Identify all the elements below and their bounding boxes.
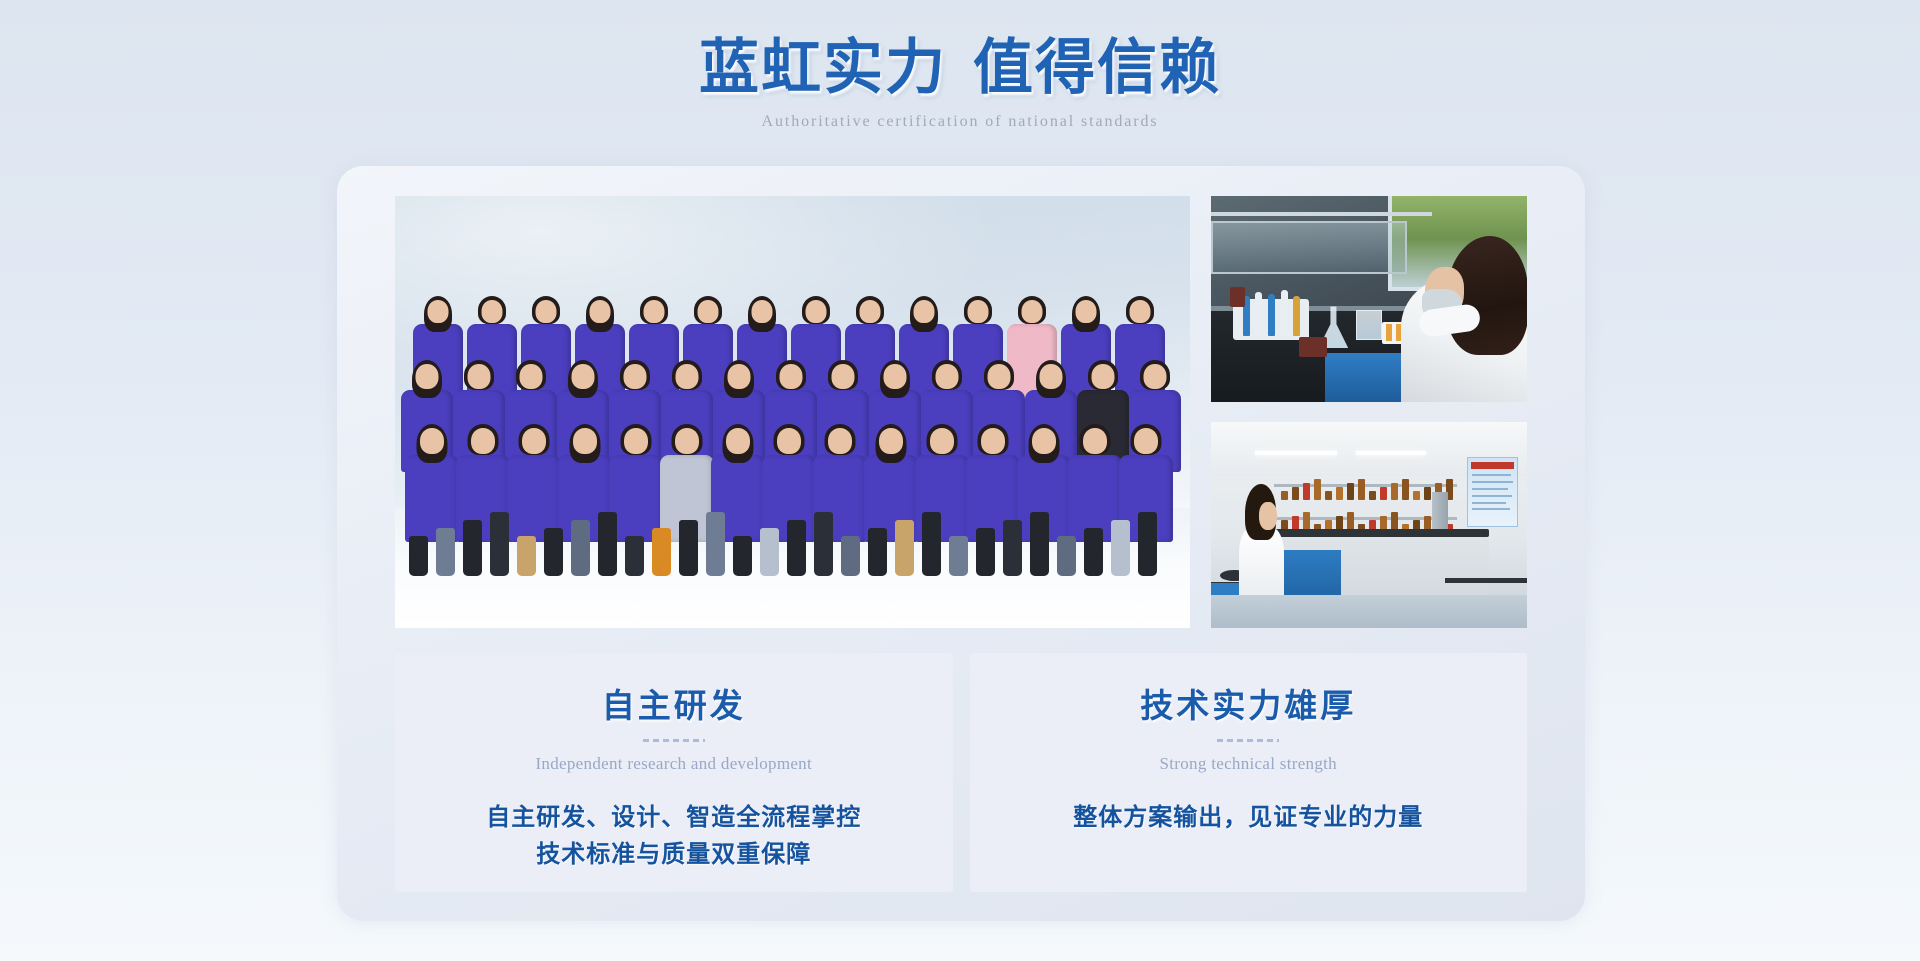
- face: [1076, 300, 1097, 323]
- face: [675, 428, 699, 454]
- reagent-bottle: [1336, 487, 1343, 500]
- beaker: [1356, 310, 1382, 340]
- leg: [436, 528, 455, 576]
- face: [1040, 364, 1063, 389]
- card-divider: [643, 739, 705, 742]
- laboratory-room-photo: [1211, 422, 1527, 628]
- face: [728, 364, 751, 389]
- leg: [1111, 520, 1130, 576]
- reagent-bottle: [1347, 483, 1354, 500]
- face: [572, 364, 595, 389]
- back-bench-top: [1445, 578, 1527, 583]
- lab-technician-pipetting-photo: [1211, 196, 1527, 402]
- face: [624, 364, 647, 389]
- face: [536, 300, 557, 323]
- card-body-line: 自主研发、设计、智造全流程掌控: [486, 800, 861, 837]
- ceiling-light: [1356, 451, 1426, 455]
- leg: [598, 512, 617, 576]
- reagent-bottle: [1358, 479, 1365, 500]
- card-body-line: 技术标准与质量双重保障: [486, 837, 861, 874]
- reagent-bottle: [1314, 479, 1321, 500]
- photo-gallery: [395, 196, 1527, 628]
- face: [780, 364, 803, 389]
- face: [1134, 428, 1158, 454]
- poster-line: [1472, 488, 1508, 490]
- reagent-bottles: [1277, 467, 1454, 500]
- face: [752, 300, 773, 323]
- leg: [814, 512, 833, 576]
- face: [930, 428, 954, 454]
- page-title: 蓝虹实力值得信赖: [0, 36, 1920, 101]
- leg: [652, 528, 671, 576]
- face: [1083, 428, 1107, 454]
- page-title-part1: 蓝虹实力: [699, 35, 947, 101]
- reagent-bottle: [1391, 483, 1398, 500]
- face: [1022, 300, 1043, 323]
- leg: [679, 520, 698, 576]
- ceiling-light: [1255, 451, 1337, 455]
- feature-card-technical-strength: 技术实力雄厚 Strong technical strength 整体方案输出，…: [970, 653, 1528, 892]
- face: [573, 428, 597, 454]
- face: [468, 364, 491, 389]
- face: [828, 428, 852, 454]
- reagent-bottle: [1369, 491, 1376, 500]
- poster-line: [1472, 495, 1512, 497]
- leg: [787, 520, 806, 576]
- face: [777, 428, 801, 454]
- content-panel: 自主研发 Independent research and developmen…: [337, 166, 1585, 921]
- face: [968, 300, 989, 323]
- pipette-icon: [1268, 294, 1275, 336]
- card-body: 自主研发、设计、智造全流程掌控 技术标准与质量双重保障: [486, 800, 861, 874]
- wall-poster: [1467, 457, 1518, 527]
- card-subtitle: Strong technical strength: [1160, 754, 1337, 774]
- page-title-part2: 值得信赖: [973, 35, 1221, 101]
- face: [988, 364, 1011, 389]
- face: [981, 428, 1005, 454]
- pipette-icon: [1293, 296, 1300, 336]
- leg: [1030, 512, 1049, 576]
- face: [416, 364, 439, 389]
- face: [1092, 364, 1115, 389]
- leg: [922, 512, 941, 576]
- leg: [976, 528, 995, 576]
- card-subtitle: Independent research and development: [535, 754, 812, 774]
- leg: [868, 528, 887, 576]
- leg: [517, 536, 536, 576]
- reagent-bottles: [1277, 500, 1454, 533]
- lab-technician: [1239, 484, 1283, 612]
- face: [879, 428, 903, 454]
- glass-partition: [1211, 221, 1407, 275]
- face: [936, 364, 959, 389]
- face: [884, 364, 907, 389]
- card-body-line: 整体方案输出，见证专业的力量: [1073, 800, 1423, 837]
- leg: [733, 536, 752, 576]
- leg: [625, 536, 644, 576]
- leg: [949, 536, 968, 576]
- face: [1144, 364, 1167, 389]
- leg: [463, 520, 482, 576]
- leg: [1057, 536, 1076, 576]
- shelf-rail: [1211, 212, 1432, 216]
- face: [914, 300, 935, 323]
- leg: [895, 520, 914, 576]
- face: [1259, 502, 1277, 530]
- card-title: 技术实力雄厚: [1140, 679, 1356, 727]
- card-divider: [1217, 739, 1279, 742]
- team-members: [395, 292, 1190, 542]
- page-subtitle: Authoritative certification of national …: [0, 113, 1920, 131]
- leg: [409, 536, 428, 576]
- face: [624, 428, 648, 454]
- reagent-bottle: [1230, 287, 1245, 307]
- face: [860, 300, 881, 323]
- leg: [571, 520, 590, 576]
- face: [832, 364, 855, 389]
- card-title: 自主研发: [602, 679, 746, 727]
- leg: [544, 528, 563, 576]
- face: [676, 364, 699, 389]
- reagent-bottle: [1402, 479, 1409, 500]
- face: [726, 428, 750, 454]
- poster-line: [1472, 502, 1506, 504]
- leg: [490, 512, 509, 576]
- reagent-bottle: [1413, 491, 1420, 500]
- leg: [706, 512, 725, 576]
- poster-line: [1472, 508, 1510, 510]
- lab-technician: [1401, 233, 1527, 402]
- poster-line: [1472, 474, 1511, 476]
- face: [420, 428, 444, 454]
- pipette-icon: [1255, 292, 1262, 336]
- reagent-bottle: [1424, 487, 1431, 500]
- team-legs: [395, 510, 1190, 576]
- poster-header-bar: [1471, 462, 1514, 469]
- island-benchtop: [1262, 529, 1490, 537]
- face: [482, 300, 503, 323]
- leg: [760, 528, 779, 576]
- face: [698, 300, 719, 323]
- leg: [1084, 528, 1103, 576]
- feature-cards: 自主研发 Independent research and developmen…: [395, 653, 1527, 892]
- reagent-bottle: [1325, 491, 1332, 500]
- leg: [1003, 520, 1022, 576]
- pipette-icon: [1281, 290, 1288, 336]
- face: [471, 428, 495, 454]
- face: [1130, 300, 1151, 323]
- face: [428, 300, 449, 323]
- reagent-bottle: [1292, 487, 1299, 500]
- feature-card-independent-rnd: 自主研发 Independent research and developmen…: [395, 653, 953, 892]
- face: [1032, 428, 1056, 454]
- page-header: 蓝虹实力值得信赖 Authoritative certification of …: [0, 36, 1920, 131]
- poster-line: [1472, 481, 1513, 483]
- face: [644, 300, 665, 323]
- face: [520, 364, 543, 389]
- face: [806, 300, 827, 323]
- card-body: 整体方案输出，见证专业的力量: [1073, 800, 1423, 837]
- face: [590, 300, 611, 323]
- leg: [841, 536, 860, 576]
- leg: [1138, 512, 1157, 576]
- reagent-bottle: [1312, 337, 1327, 357]
- face: [522, 428, 546, 454]
- team-group-photo: [395, 196, 1190, 628]
- floor: [1211, 595, 1527, 628]
- reagent-bottle: [1303, 483, 1310, 500]
- reagent-bottle: [1380, 487, 1387, 500]
